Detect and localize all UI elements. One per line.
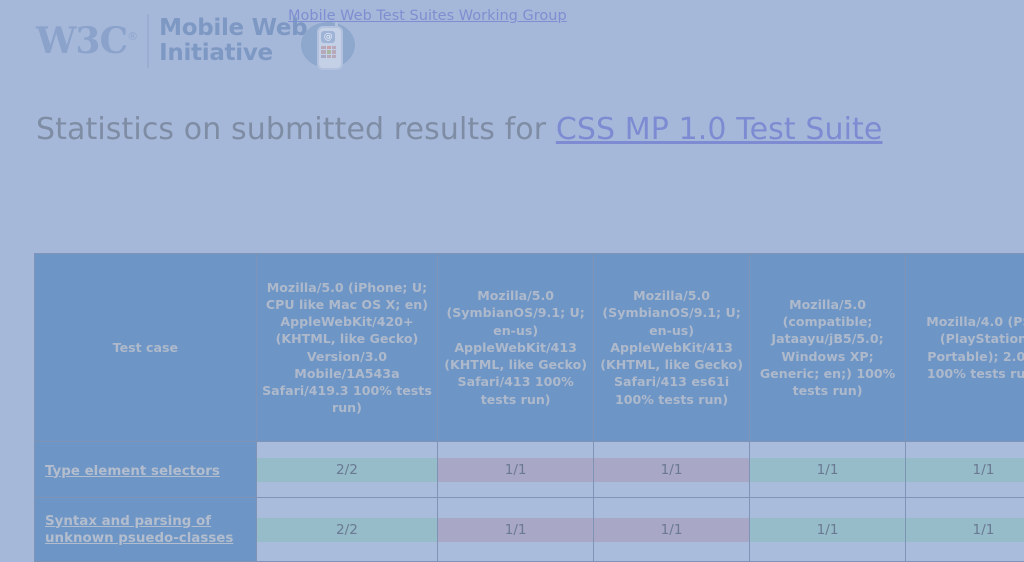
page-header: W3C® Mobile Web Initiative @ Mobile Web … [0,0,1024,90]
testcase-link[interactable]: Syntax and parsing of unknown psuedo-cla… [45,513,248,547]
table-row: Type element selectors 2/2 1/1 1/1 1/1 1… [35,442,1024,498]
column-header-ua2: Mozilla/5.0 (SymbianOS/9.1; U; en-us) Ap… [438,254,594,442]
column-header-ua5: Mozilla/4.0 (PSP (PlayStation Portable);… [906,254,1024,442]
mobile-web-initiative-wordmark: Mobile Web Initiative [159,16,307,66]
statistics-table: Test case Mozilla/5.0 (iPhone; U; CPU li… [34,253,1024,562]
result-cell: 1/1 [750,442,906,498]
table-header-row: Test case Mozilla/5.0 (iPhone; U; CPU li… [35,254,1024,442]
w3c-wordmark: W3C® [36,23,141,59]
working-group-link[interactable]: Mobile Web Test Suites Working Group [288,8,567,24]
phone-screen-icon: @ [321,31,335,43]
row-header-testcase: Syntax and parsing of unknown psuedo-cla… [35,498,257,562]
result-value: 1/1 [750,458,905,482]
result-value: 1/1 [594,458,749,482]
result-value: 2/2 [257,518,437,542]
result-value: 1/1 [750,518,905,542]
table-body: Type element selectors 2/2 1/1 1/1 1/1 1… [35,442,1024,562]
mwi-line-1: Mobile Web [159,15,307,41]
test-suite-link[interactable]: CSS MP 1.0 Test Suite [556,112,883,147]
mwi-line-2: Initiative [159,40,273,66]
result-cell: 1/1 [750,498,906,562]
page-title-prefix: Statistics on submitted results for [36,112,556,147]
result-cell: 2/2 [256,498,437,562]
result-value: 2/2 [257,458,437,482]
page-title: Statistics on submitted results for CSS … [0,90,1024,147]
w3c-wordmark-text: W3C [36,20,127,62]
column-header-ua3: Mozilla/5.0 (SymbianOS/9.1; U; en-us) Ap… [594,254,750,442]
row-header-testcase: Type element selectors [35,442,257,498]
result-cell: 1/1 [438,442,594,498]
column-header-ua4: Mozilla/5.0 (compatible; Jataayu/jB5/5.0… [750,254,906,442]
result-value: 1/1 [438,458,593,482]
logo-divider [147,14,149,68]
result-cell: 1/1 [594,498,750,562]
result-value: 1/1 [438,518,593,542]
registered-trademark-icon: ® [127,30,137,43]
result-value: 1/1 [906,458,1024,482]
phone-keypad-icon [321,46,336,58]
mobile-phone-icon: @ [301,18,355,70]
result-cell: 1/1 [906,442,1024,498]
result-cell: 2/2 [256,442,437,498]
result-value: 1/1 [594,518,749,542]
column-header-testcase: Test case [35,254,257,442]
result-cell: 1/1 [594,442,750,498]
table-head: Test case Mozilla/5.0 (iPhone; U; CPU li… [35,254,1024,442]
table-row: Syntax and parsing of unknown psuedo-cla… [35,498,1024,562]
column-header-ua1: Mozilla/5.0 (iPhone; U; CPU like Mac OS … [256,254,437,442]
testcase-link[interactable]: Type element selectors [45,463,220,480]
result-cell: 1/1 [438,498,594,562]
result-cell: 1/1 [906,498,1024,562]
statistics-table-container: Test case Mozilla/5.0 (iPhone; U; CPU li… [0,253,1024,562]
result-value: 1/1 [906,518,1024,542]
